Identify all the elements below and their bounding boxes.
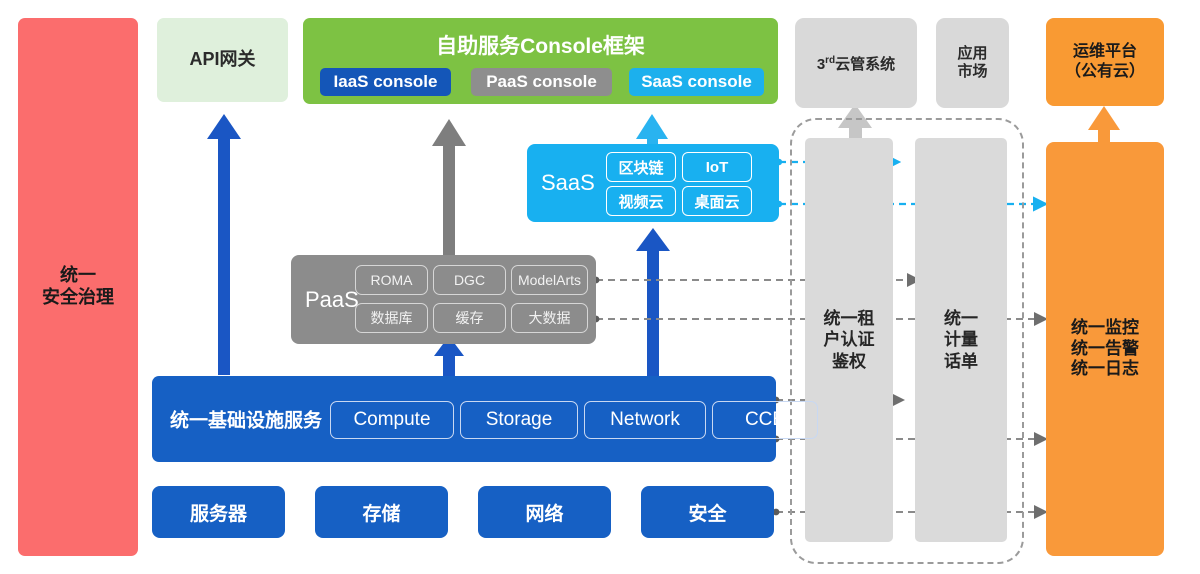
paas-layer-title: PaaS	[305, 287, 359, 313]
paas-chip-bigdata[interactable]: 大数据	[511, 303, 588, 333]
iaas-layer-title: 统一基础设施服务	[170, 406, 322, 433]
iaas-chip-cce[interactable]: CCE	[712, 401, 818, 439]
paas-chip-cache[interactable]: 缓存	[433, 303, 506, 333]
arrow-opspanel-to-opsplatform	[1088, 106, 1120, 142]
iaas-layer: 统一基础设施服务 Compute Storage Network CCE	[152, 376, 776, 462]
hardware-security-box[interactable]: 安全	[641, 486, 774, 538]
ops-platform-box[interactable]: 运维平台 （公有云）	[1046, 18, 1164, 106]
iaas-chip-storage[interactable]: Storage	[460, 401, 578, 439]
api-gateway-box[interactable]: API网关	[157, 18, 288, 102]
metering-billing-column[interactable]: 统一 计量 话单	[915, 138, 1007, 542]
saas-console-button[interactable]: SaaS console	[629, 68, 764, 96]
iaas-console-button[interactable]: IaaS console	[320, 68, 451, 96]
iaas-chip-network[interactable]: Network	[584, 401, 706, 439]
saas-layer: SaaS 区块链 IoT 视频云 桌面云	[527, 144, 779, 222]
paas-console-button[interactable]: PaaS console	[471, 68, 612, 96]
saas-chip-iot[interactable]: IoT	[682, 152, 752, 182]
saas-chip-desktop-cloud[interactable]: 桌面云	[682, 186, 752, 216]
saas-chip-blockchain[interactable]: 区块链	[606, 152, 676, 182]
security-governance-panel[interactable]: 统一 安全治理	[18, 18, 138, 556]
hardware-server-box[interactable]: 服务器	[152, 486, 285, 538]
app-market-box[interactable]: 应用 市场	[936, 18, 1009, 108]
arrow-iaas-to-saas	[636, 228, 670, 376]
paas-layer: PaaS ROMA DGC ModelArts 数据库 缓存 大数据	[291, 255, 596, 344]
paas-chip-roma[interactable]: ROMA	[355, 265, 428, 295]
hardware-network-box[interactable]: 网络	[478, 486, 611, 538]
arrow-iaas-to-apigw	[207, 114, 241, 375]
saas-chip-video-cloud[interactable]: 视频云	[606, 186, 676, 216]
saas-layer-title: SaaS	[541, 170, 595, 196]
arrow-paas-to-console	[432, 119, 466, 255]
paas-chip-database[interactable]: 数据库	[355, 303, 428, 333]
iaas-chip-compute[interactable]: Compute	[330, 401, 454, 439]
self-service-console-frame: 自助服务Console框架 IaaS console PaaS console …	[303, 18, 778, 104]
ops-monitoring-panel[interactable]: 统一监控 统一告警 统一日志	[1046, 142, 1164, 556]
tenant-auth-column[interactable]: 统一租 户认证 鉴权	[805, 138, 893, 542]
paas-chip-dgc[interactable]: DGC	[433, 265, 506, 295]
third-party-cloud-mgmt-box[interactable]: 3rd云管系统	[795, 18, 917, 108]
console-frame-title: 自助服务Console框架	[303, 30, 778, 60]
hardware-storage-box[interactable]: 存储	[315, 486, 448, 538]
cloud-mgmt-label: 3rd云管系统	[817, 53, 895, 74]
architecture-diagram: 统一 安全治理 API网关 自助服务Console框架 IaaS console…	[0, 0, 1200, 574]
paas-chip-modelarts[interactable]: ModelArts	[511, 265, 588, 295]
